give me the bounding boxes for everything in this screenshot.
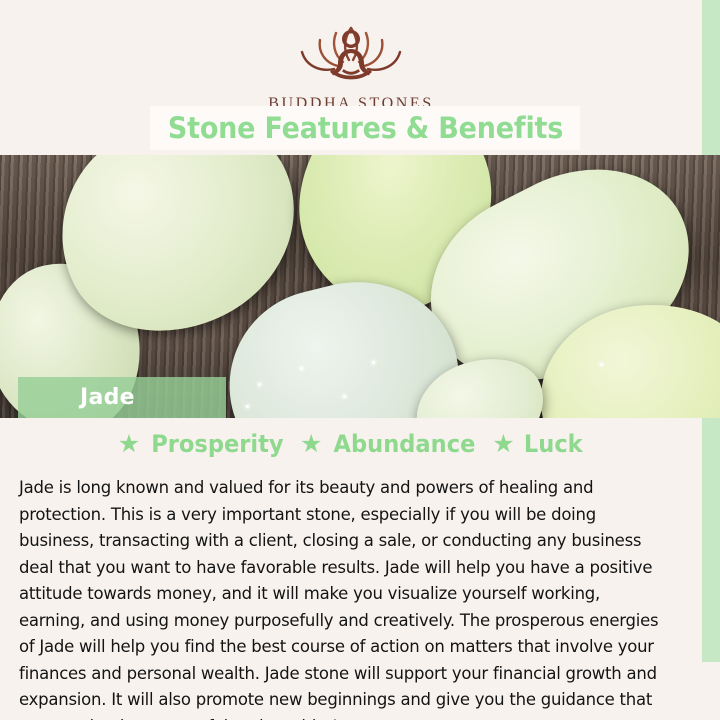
stone-description: Jade is long known and valued for its be… [19,475,662,720]
sparkle-icon [372,361,375,364]
benefits-row: ★ Prosperity ★ Abundance ★ Luck [19,430,683,458]
star-icon: ★ [118,432,140,457]
star-icon: ★ [492,432,514,457]
stone-name-banner: Jade [18,377,226,418]
benefit-label: Abundance [334,430,476,458]
benefit-label: Prosperity [151,430,283,458]
benefit-item: ★ Abundance [300,430,480,458]
benefit-item: ★ Prosperity [118,430,288,458]
star-icon: ★ [300,432,322,457]
sparkle-icon [343,395,346,398]
brand-logo: BUDDHA STONES [0,14,702,113]
title-banner: Stone Features & Benefits [150,106,580,150]
stone-name: Jade [80,385,135,410]
lotus-meditation-icon [0,14,702,91]
sparkle-icon [258,383,261,386]
page-title: Stone Features & Benefits [167,111,562,145]
sparkle-icon [600,363,603,366]
benefit-label: Luck [524,430,583,458]
stone-info-poster: BUDDHA STONES Stone Features & Benefits … [0,0,720,720]
sparkle-icon [300,367,303,370]
benefit-item: ★ Luck [492,430,584,458]
sparkle-icon [246,405,249,408]
